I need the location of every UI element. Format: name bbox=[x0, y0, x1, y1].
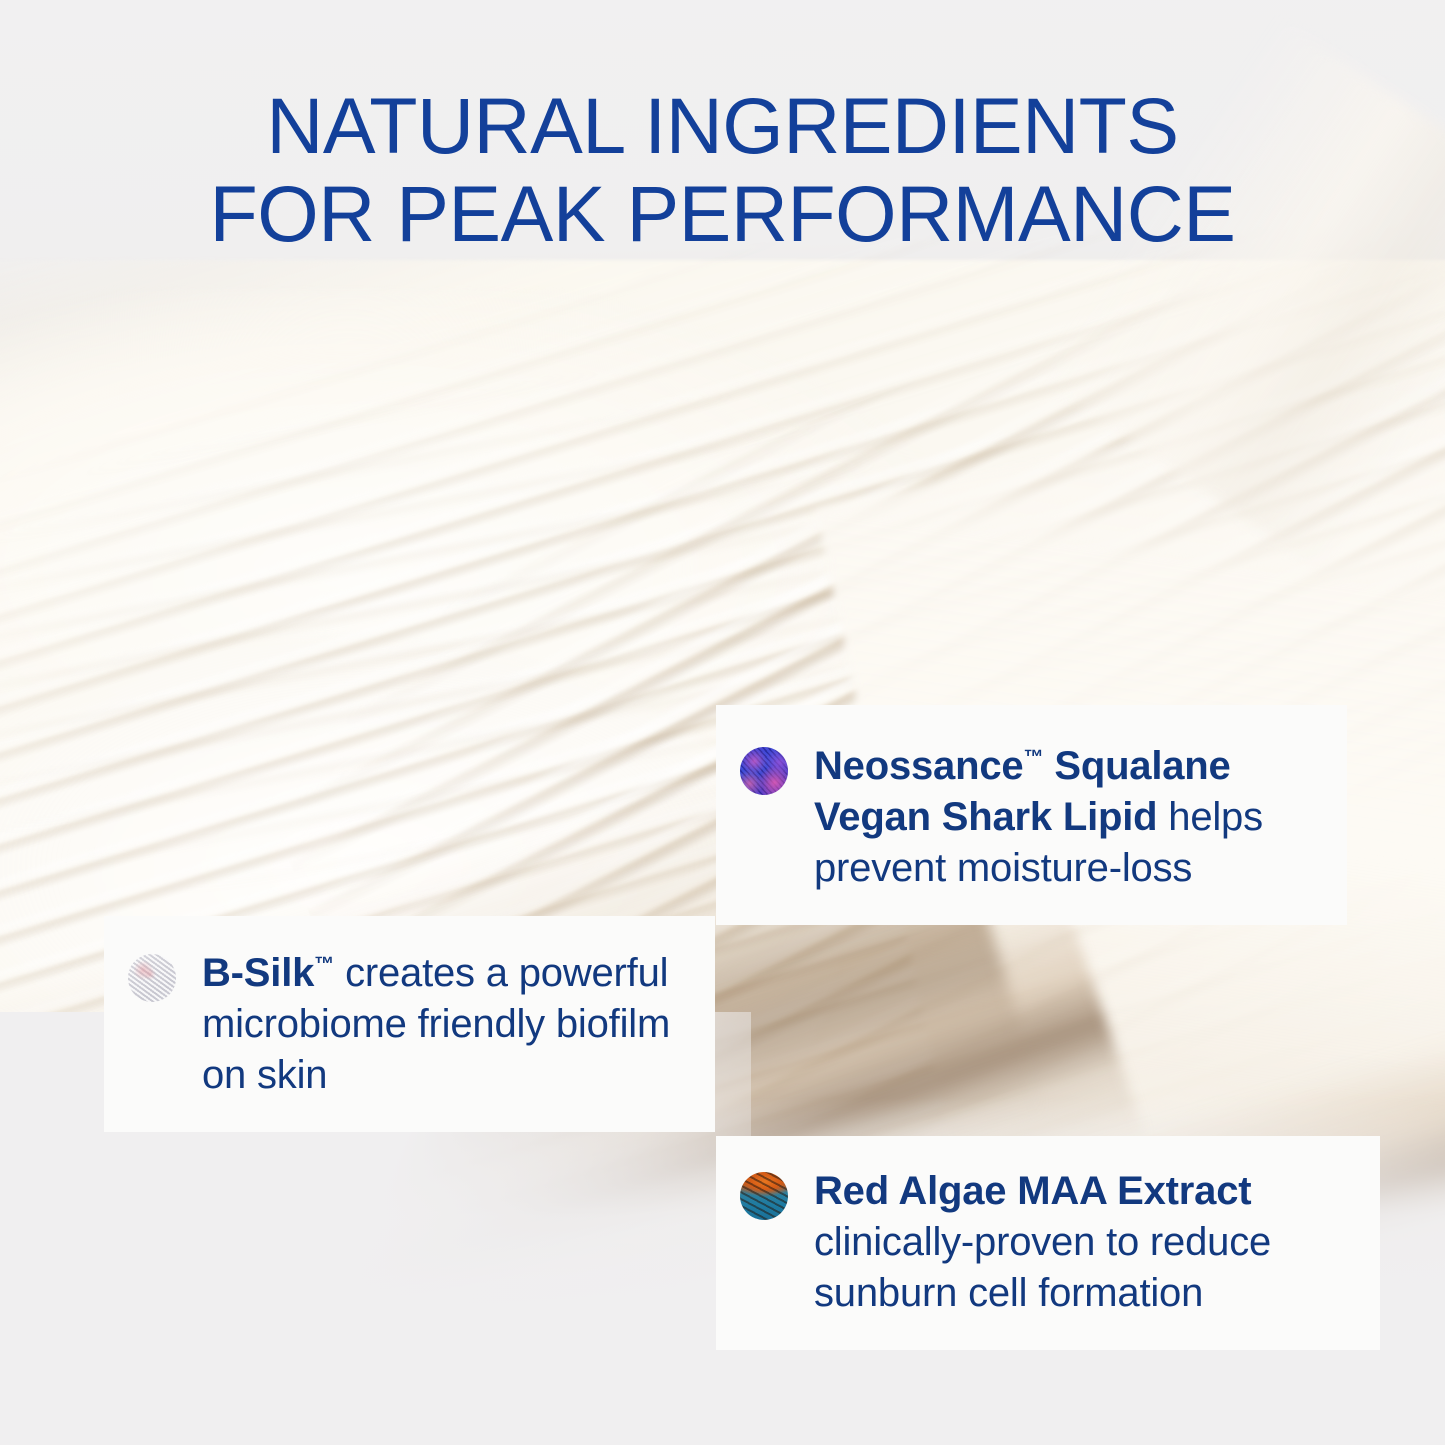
squalane-microscopy-icon-wrap bbox=[740, 747, 788, 795]
red-algae-underwater-icon-wrap bbox=[740, 1172, 788, 1220]
callout-lead-red-algae: Red Algae MAA Extract bbox=[814, 1169, 1251, 1213]
callout-lead-neossance: Neossance bbox=[814, 744, 1023, 788]
callout-card-b-silk: B-Silk™ creates a powerful microbiome fr… bbox=[104, 916, 715, 1132]
b-silk-protein-icon bbox=[128, 954, 176, 1002]
page-title: NATURAL INGREDIENTS FOR PEAK PERFORMANCE bbox=[0, 82, 1445, 259]
callout-lead-b-silk: B-Silk bbox=[202, 951, 314, 995]
squalane-microscopy-icon bbox=[740, 747, 788, 795]
callout-text-red-algae: Red Algae MAA Extract clinically-proven … bbox=[814, 1166, 1356, 1320]
trademark-icon: ™ bbox=[1023, 746, 1043, 768]
product-ingredients-infographic: NATURAL INGREDIENTS FOR PEAK PERFORMANCE… bbox=[0, 0, 1445, 1445]
callout-rest-red-algae: clinically-proven to reduce sunburn cell… bbox=[814, 1220, 1271, 1315]
trademark-icon: ™ bbox=[314, 953, 334, 975]
callout-card-red-algae: Red Algae MAA Extract clinically-proven … bbox=[716, 1136, 1380, 1350]
red-algae-underwater-icon bbox=[740, 1172, 788, 1220]
callout-text-b-silk: B-Silk™ creates a powerful microbiome fr… bbox=[202, 948, 693, 1102]
callout-card-neossance-squalane: Neossance™ Squalane Vegan Shark Lipid he… bbox=[716, 705, 1347, 925]
b-silk-protein-icon-wrap bbox=[128, 954, 176, 1002]
callout-text-neossance-squalane: Neossance™ Squalane Vegan Shark Lipid he… bbox=[814, 741, 1323, 895]
